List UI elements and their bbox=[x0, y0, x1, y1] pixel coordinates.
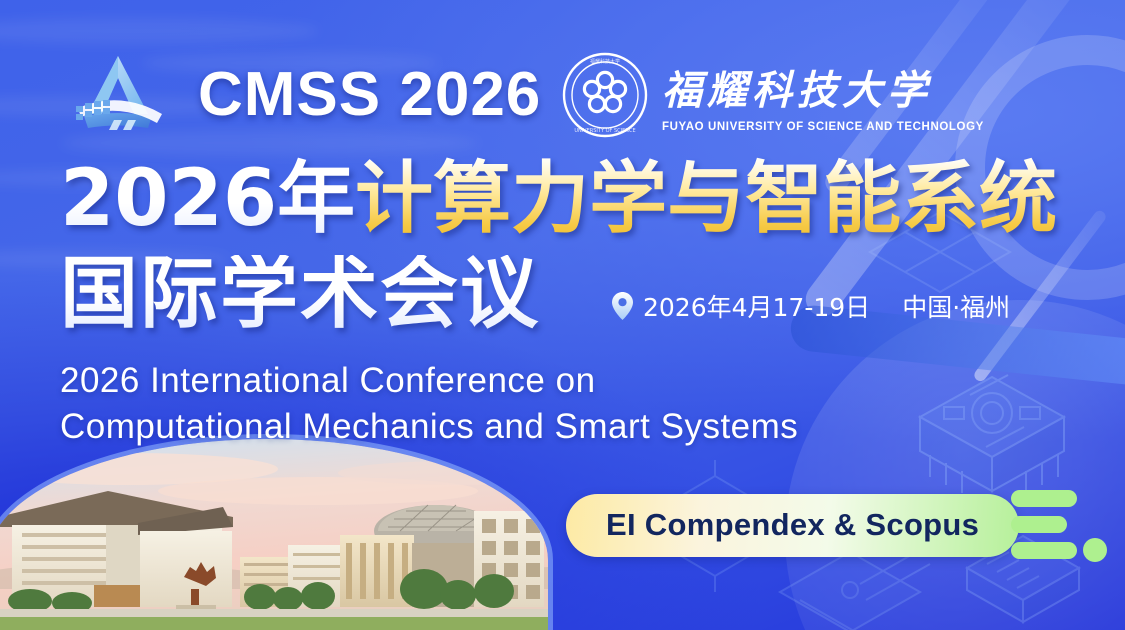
university-name-block: 福耀科技大学 FUYAO UNIVERSITY OF SCIENCE AND T… bbox=[662, 58, 984, 133]
location-pin-icon bbox=[612, 292, 633, 320]
conference-header: CMSS 2026 bbox=[62, 48, 541, 140]
conference-code: CMSS 2026 bbox=[198, 59, 541, 130]
university-identity: 福耀科技大学 UNIVERSITY OF SCIENCE 福耀科技大学 FUYA… bbox=[562, 52, 984, 138]
conference-meta: 2026年4月17-19日 中国·福州 bbox=[612, 288, 1010, 324]
svg-text:福耀科技大学: 福耀科技大学 bbox=[590, 58, 620, 65]
fuyao-campus-photo bbox=[0, 439, 548, 630]
fuyao-university-seal: 福耀科技大学 UNIVERSITY OF SCIENCE bbox=[562, 52, 648, 138]
index-badge: EI Compendex & Scopus bbox=[566, 494, 1019, 557]
campus-photo-container bbox=[0, 439, 548, 630]
subtitle-line2: Computational Mechanics and Smart System… bbox=[60, 404, 798, 450]
conference-banner: CMSS 2026 福耀科技大学 UNIVERSITY OF SCIENCE 福… bbox=[0, 0, 1125, 630]
subtitle-line1: 2026 International Conference on bbox=[60, 358, 798, 404]
university-name-en: FUYAO UNIVERSITY OF SCIENCE AND TECHNOLO… bbox=[662, 121, 984, 133]
cmss-triangle-bridge-logo bbox=[62, 48, 174, 140]
e-bars-dot-decoration bbox=[1005, 482, 1113, 568]
university-name-cn: 福耀科技大学 bbox=[662, 58, 984, 116]
conference-city: 中国·福州 bbox=[902, 288, 1010, 324]
index-badge-label: EI Compendex & Scopus bbox=[606, 507, 979, 543]
conference-subtitle-en: 2026 International Conference on Computa… bbox=[60, 358, 798, 450]
title-year: 2026年 bbox=[60, 154, 355, 244]
conference-date: 2026年4月17-19日 bbox=[643, 288, 870, 324]
index-badge-group: EI Compendex & Scopus bbox=[566, 482, 1113, 568]
title-topic: 计算力学与智能系统 bbox=[355, 154, 1057, 244]
conference-title-cn-line1: 2026年计算力学与智能系统 bbox=[60, 160, 1057, 238]
bg-streak bbox=[0, 18, 320, 44]
conference-title-cn-line2: 国际学术会议 bbox=[60, 255, 540, 333]
svg-text:UNIVERSITY OF SCIENCE: UNIVERSITY OF SCIENCE bbox=[574, 128, 635, 134]
